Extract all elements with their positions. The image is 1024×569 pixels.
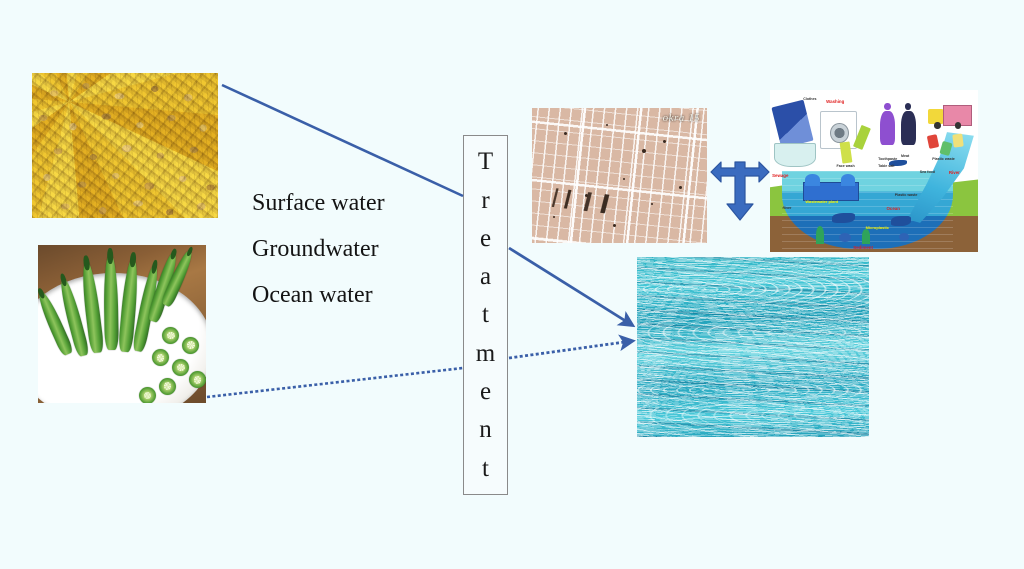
arrow-treatment-to-clean-water-dotted [509, 341, 632, 358]
treatment-letter: r [481, 188, 489, 213]
microplastic-label: Plastic waste [895, 194, 918, 198]
plastic-waste-label: Plastic waste [932, 158, 955, 162]
sewage-label: Sewage [772, 174, 788, 178]
okra-slice [159, 378, 176, 395]
face-wash-label: Face wash [837, 165, 855, 169]
washing-machine-icon [820, 111, 857, 149]
okra-slice [189, 371, 206, 388]
treatment-letter: t [482, 456, 489, 481]
sea-food-label: Sea food [920, 171, 935, 175]
okra-slice [182, 337, 199, 354]
source-surface-water: Surface water [252, 190, 432, 217]
colony-dot [651, 203, 653, 205]
colony-dot [606, 124, 608, 126]
treatment-letter: t [482, 302, 489, 327]
filter-grid-bold [532, 108, 707, 243]
wastewater-plant-tank [841, 174, 856, 185]
sink-icon [774, 143, 816, 166]
washing-label: Washing [826, 100, 844, 104]
river-label: River [949, 171, 960, 175]
arrow-seeds-to-treatment [222, 85, 463, 196]
microplastic-water-label: Microplastic [866, 226, 889, 230]
male-figure-icon [901, 103, 916, 145]
arrow-okra-to-treatment [207, 368, 463, 397]
arrow-treatment-to-clean-water-solid [509, 248, 632, 325]
source-groundwater: Groundwater [252, 236, 432, 263]
okra-pods-photo [38, 245, 206, 403]
wastewater-plant-tank [805, 174, 820, 185]
meat-label: Meat [901, 155, 909, 159]
microscope-petri-dish-photo: okra 15 [532, 108, 707, 243]
treatment-box: T r e a t m e n t [463, 135, 508, 495]
colony-dot [564, 132, 567, 135]
petri-dish-shape [532, 108, 707, 243]
handwritten-sample-label: okra 15 [663, 112, 700, 124]
fish-icon [832, 213, 855, 223]
treatment-letter: m [476, 341, 495, 366]
sediment-label: Sediment [853, 246, 873, 250]
figure-canvas: Surface water Groundwater Ocean water T … [0, 0, 1024, 569]
plastic-waste-icon [952, 133, 964, 147]
crab-icon [899, 233, 909, 241]
treatment-letter: e [480, 226, 491, 251]
clean-water-photo [637, 257, 869, 437]
colony-dot [613, 224, 616, 227]
treatment-letter: a [480, 264, 491, 289]
fenugreek-seeds-photo [32, 73, 218, 218]
treatment-letter: e [480, 379, 491, 404]
okra-pod [103, 254, 119, 350]
ocean-label: Ocean [886, 207, 899, 211]
clothes-label: Clothes [803, 98, 816, 102]
seaweed-icon [816, 226, 824, 244]
colony-dot [553, 216, 555, 218]
water-sources-list: Surface water Groundwater Ocean water [252, 190, 432, 328]
female-figure-icon [880, 103, 895, 145]
table-salt-label: Table salt [878, 165, 894, 169]
river-label-left: River [782, 207, 791, 211]
truck-wheel-icon [934, 122, 940, 128]
treatment-letter: T [478, 149, 493, 174]
water-pollution-infographic: Clothes Washing Face wash Toothpaste Mea… [770, 90, 978, 252]
source-ocean-water: Ocean water [252, 282, 432, 309]
seaweed-icon [862, 229, 870, 244]
okra-slice [139, 387, 156, 403]
treatment-letter: n [479, 417, 492, 442]
wastewater-plant-label: Wastewater plant [805, 200, 838, 204]
bidirectional-t-arrow-icon [709, 152, 771, 224]
colony-dot [642, 149, 646, 153]
